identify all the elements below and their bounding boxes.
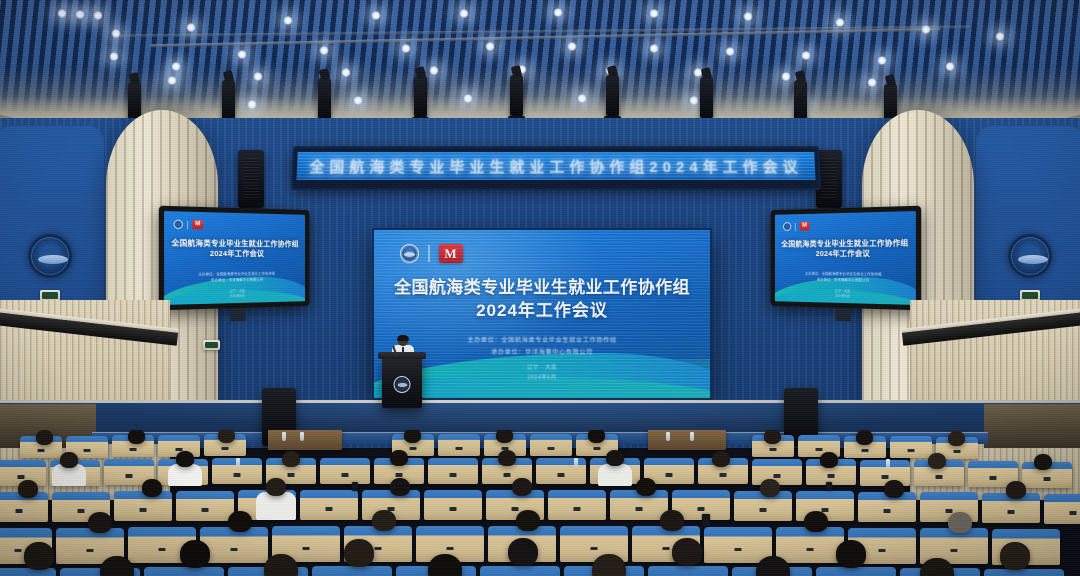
attendee-shoulders bbox=[256, 492, 296, 520]
water-bottle bbox=[666, 432, 670, 441]
led-banner-frame: 全国航海类专业毕业生就业工作协作组2024年工作会议 bbox=[291, 146, 821, 190]
side-right-subtitle: 主办单位：全国航海类专业毕业生就业工作协作组 承办单位：华洋海事中心有限公司 bbox=[775, 270, 916, 284]
main-subtitle-line1: 主办单位：全国航海类专业毕业生就业工作协作组 bbox=[384, 335, 700, 347]
seat-number-plate bbox=[1008, 510, 1015, 514]
seat-number-plate bbox=[234, 473, 241, 477]
side-left-logos: M bbox=[174, 220, 204, 230]
logo-divider bbox=[187, 220, 188, 228]
attendee-head bbox=[764, 430, 781, 444]
auditorium-seat[interactable] bbox=[320, 458, 370, 484]
ceiling-spotlight bbox=[566, 42, 578, 51]
attendee-head bbox=[390, 450, 408, 466]
side-right-title: 全国航海类专业毕业生就业工作协作组 2024年工作会议 bbox=[775, 238, 916, 259]
ceiling-spotlight bbox=[236, 50, 248, 59]
side-right-logos: M bbox=[783, 222, 810, 231]
water-bottle bbox=[574, 458, 578, 467]
stage-edge-trim bbox=[0, 400, 1080, 403]
ceiling-spotlight bbox=[458, 9, 470, 18]
main-led-screen: M 全国航海类专业毕业生就业工作协作组 2024年工作会议 主办单位：全国航海类… bbox=[372, 228, 712, 400]
logo-divider bbox=[795, 223, 796, 231]
attendee-head bbox=[266, 478, 286, 496]
seat-number-plate bbox=[231, 548, 238, 552]
ceiling-spotlight bbox=[648, 44, 660, 53]
attendee-head bbox=[176, 451, 194, 467]
seat-number-plate bbox=[882, 475, 889, 479]
seal-logo-icon bbox=[174, 220, 183, 229]
seat-number-plate bbox=[222, 447, 229, 451]
attendee-head bbox=[180, 540, 210, 568]
seat-number-plate bbox=[908, 449, 915, 453]
podium-emblem-icon bbox=[394, 376, 411, 393]
auditorium-seat[interactable] bbox=[176, 491, 234, 521]
smartphone[interactable] bbox=[352, 482, 358, 491]
seat-number-plate bbox=[884, 509, 891, 513]
attendee-head bbox=[1000, 542, 1030, 570]
seat-number-plate bbox=[130, 448, 137, 452]
ceiling-spotlight bbox=[400, 44, 412, 53]
seat-number-plate bbox=[1044, 477, 1051, 481]
attendee-head bbox=[282, 451, 300, 467]
attendee-head bbox=[390, 478, 410, 496]
led-banner-screen: 全国航海类专业毕业生就业工作协作组2024年工作会议 bbox=[296, 152, 815, 180]
attendee-head bbox=[18, 480, 38, 498]
seal-logo-icon bbox=[400, 244, 419, 263]
attendee-head bbox=[496, 430, 513, 443]
seal-logo-icon bbox=[783, 222, 791, 231]
loudspeaker-left bbox=[238, 150, 264, 208]
ceiling-spotlight bbox=[185, 23, 197, 32]
ceiling-spotlight bbox=[282, 16, 294, 25]
presenter-hair bbox=[397, 335, 409, 341]
seat-number-plate bbox=[954, 450, 961, 454]
seat-number-plate bbox=[450, 507, 457, 511]
attendee-head bbox=[60, 452, 78, 468]
stage-light-fixture bbox=[510, 75, 523, 117]
auditorium-seat[interactable] bbox=[776, 527, 844, 563]
seat-number-plate bbox=[78, 509, 85, 513]
side-right-title-line2: 2024年工作会议 bbox=[775, 249, 916, 260]
ceiling-spotlight bbox=[318, 46, 330, 55]
seat-number-plate bbox=[822, 508, 829, 512]
auditorium-seat[interactable] bbox=[312, 566, 392, 576]
ceiling-spotlight bbox=[56, 9, 68, 18]
seat-number-plate bbox=[504, 473, 511, 477]
side-display-left-screen: M 全国航海类专业毕业生就业工作协作组 2024年工作会议 主办单位：全国航海类… bbox=[164, 211, 305, 305]
seat-number-plate bbox=[202, 508, 209, 512]
seat-number-plate bbox=[807, 548, 814, 552]
seat-number-plate bbox=[574, 507, 581, 511]
stage-light-fixture bbox=[222, 80, 235, 122]
ceiling-spotlight bbox=[724, 47, 736, 56]
auditorium-seat[interactable] bbox=[428, 458, 478, 484]
stage-light-fixture bbox=[700, 77, 713, 119]
speaking-podium bbox=[382, 356, 422, 408]
attendee-head bbox=[36, 430, 53, 445]
seat-number-plate bbox=[87, 549, 94, 553]
led-banner-text: 全国航海类专业毕业生就业工作协作组2024年工作会议 bbox=[309, 156, 803, 177]
auditorium-seat[interactable] bbox=[536, 458, 586, 484]
seat-number-plate bbox=[720, 473, 727, 477]
attendee-head bbox=[344, 539, 374, 567]
main-screen-logos: M bbox=[400, 244, 463, 263]
auditorium-seat[interactable] bbox=[438, 434, 480, 456]
led-banner: 全国航海类专业毕业生就业工作协作组2024年工作会议 bbox=[292, 146, 820, 190]
seat-number-plate bbox=[862, 449, 869, 453]
side-left-title-line2: 2024年工作会议 bbox=[164, 249, 305, 260]
ceiling-spotlight bbox=[462, 94, 474, 103]
attendee-head bbox=[760, 479, 780, 497]
auditorium-seat[interactable] bbox=[0, 568, 56, 576]
side-display-right-stand bbox=[835, 308, 851, 322]
attendee-head-foreground bbox=[428, 554, 462, 576]
seat-number-plate bbox=[288, 473, 295, 477]
ceiling-spotlight bbox=[252, 72, 264, 81]
attendee-head bbox=[24, 542, 54, 570]
main-screen-title: 全国航海类专业毕业生就业工作协作组 2024年工作会议 bbox=[384, 276, 700, 322]
attendee-head bbox=[856, 430, 873, 445]
seat-number-plate bbox=[735, 548, 742, 552]
attendee-head bbox=[948, 512, 972, 533]
stage-light-fixture bbox=[794, 80, 807, 122]
seat-number-plate bbox=[591, 547, 598, 551]
seat-number-plate bbox=[636, 507, 643, 511]
seat-number-plate bbox=[303, 547, 310, 551]
seat-number-plate bbox=[16, 509, 23, 513]
attendee-head bbox=[636, 478, 656, 496]
main-title-line2: 2024年工作会议 bbox=[384, 299, 700, 322]
side-display-left: M 全国航海类专业毕业生就业工作协作组 2024年工作会议 主办单位：全国航海类… bbox=[159, 206, 310, 311]
attendee-shoulders bbox=[598, 464, 632, 486]
attendee-head bbox=[508, 538, 538, 566]
seat-number-plate bbox=[698, 507, 705, 511]
water-bottle bbox=[690, 432, 694, 441]
attendee-head bbox=[948, 431, 965, 446]
seat-number-plate bbox=[326, 507, 333, 511]
ceiling-spotlight bbox=[994, 32, 1006, 41]
seat-number-plate bbox=[936, 475, 943, 479]
attendee-head bbox=[228, 511, 252, 532]
auditorium-seat[interactable] bbox=[530, 434, 572, 456]
ceiling-spotlight bbox=[370, 11, 382, 20]
logo-divider bbox=[428, 245, 430, 262]
auditorium-seat[interactable] bbox=[144, 567, 224, 576]
ceiling-spotlight bbox=[110, 29, 122, 38]
ceiling-spotlight bbox=[166, 76, 178, 85]
water-bottle bbox=[236, 458, 240, 467]
attendee-head bbox=[372, 510, 396, 531]
attendee-head bbox=[606, 450, 624, 466]
attendee-head-foreground bbox=[264, 554, 298, 576]
ceiling-spotlight bbox=[834, 18, 846, 27]
wall-emblem-right-icon bbox=[1008, 234, 1052, 278]
side-display-right-screen: M 全国航海类专业毕业生就业工作协作组 2024年工作会议 主办单位：全国航海类… bbox=[775, 211, 916, 305]
seat-number-plate bbox=[816, 448, 823, 452]
attendee-head bbox=[218, 430, 235, 443]
ceiling-spotlight bbox=[552, 8, 564, 17]
attendee-head bbox=[836, 540, 866, 568]
attendee-head bbox=[512, 478, 532, 496]
auditorium-seat[interactable] bbox=[200, 527, 268, 563]
seat-number-plate bbox=[663, 547, 670, 551]
m-logo-icon: M bbox=[799, 222, 809, 231]
attendee-head bbox=[498, 450, 516, 466]
water-bottle bbox=[886, 459, 890, 468]
seat-number-plate bbox=[375, 547, 382, 551]
seat-number-plate bbox=[342, 473, 349, 477]
seat-number-plate bbox=[666, 473, 673, 477]
ceiling-spotlight bbox=[800, 51, 812, 60]
auditorium-seat[interactable] bbox=[300, 490, 358, 520]
seat-number-plate bbox=[1070, 511, 1077, 515]
ceiling-spotlight bbox=[92, 11, 104, 20]
attendee-shoulders bbox=[168, 464, 202, 486]
attendee-head bbox=[588, 430, 605, 443]
head-table bbox=[648, 430, 726, 450]
ceiling-spotlight bbox=[866, 78, 878, 87]
attendee-head bbox=[884, 480, 904, 498]
smartphone[interactable] bbox=[826, 482, 832, 491]
attendee-head bbox=[672, 538, 702, 566]
auditorium-seat[interactable] bbox=[816, 567, 896, 576]
auditorium-seat[interactable] bbox=[860, 460, 910, 486]
seat-number-plate bbox=[450, 473, 457, 477]
seat-number-plate bbox=[770, 448, 777, 452]
podium-top bbox=[378, 352, 426, 359]
auditorium-seat[interactable] bbox=[890, 436, 932, 458]
seat-number-plate bbox=[38, 449, 45, 453]
seat-number-plate bbox=[594, 447, 601, 451]
seat-number-plate bbox=[879, 549, 886, 553]
ceiling-spotlight bbox=[484, 42, 496, 51]
auditorium-seat[interactable] bbox=[480, 566, 560, 576]
main-screen-footer: 辽宁 · 大连 2024年6月 bbox=[384, 363, 700, 384]
seat-number-plate bbox=[946, 509, 953, 513]
ceiling-spotlight bbox=[340, 68, 352, 77]
attendee-head bbox=[1034, 454, 1052, 470]
m-logo-icon: M bbox=[439, 244, 463, 263]
attendee-head bbox=[660, 510, 684, 531]
side-left-title-line1: 全国航海类专业毕业生就业工作协作组 bbox=[164, 238, 305, 249]
side-right-title-line1: 全国航海类专业毕业生就业工作协作组 bbox=[775, 238, 916, 249]
main-footer-line1: 辽宁 · 大连 bbox=[384, 363, 700, 373]
auditorium-seat[interactable] bbox=[114, 491, 172, 521]
seat-number-plate bbox=[990, 476, 997, 480]
seat-number-plate bbox=[18, 475, 25, 479]
seat-number-plate bbox=[84, 449, 91, 453]
stage-light-fixture bbox=[414, 76, 427, 118]
side-left-title: 全国航海类专业毕业生就业工作协作组 2024年工作会议 bbox=[164, 238, 305, 259]
attendee-head bbox=[1006, 481, 1026, 499]
m-logo-icon: M bbox=[192, 220, 203, 229]
side-display-left-stand bbox=[230, 308, 246, 322]
ceiling-spotlight bbox=[876, 56, 888, 65]
seat-number-plate bbox=[456, 447, 463, 451]
attendee-head bbox=[820, 452, 838, 468]
attendee-head bbox=[142, 479, 162, 497]
seat-number-plate bbox=[828, 474, 835, 478]
seat-number-plate bbox=[760, 508, 767, 512]
water-bottle bbox=[282, 432, 286, 441]
seat-number-plate bbox=[15, 549, 22, 553]
seat-number-plate bbox=[159, 548, 166, 552]
ceiling-spotlight bbox=[74, 10, 86, 19]
smartphone[interactable] bbox=[702, 514, 710, 526]
head-table bbox=[268, 430, 342, 450]
seat-number-plate bbox=[396, 473, 403, 477]
stage-light-fixture bbox=[318, 78, 331, 120]
audience-seating-area bbox=[0, 430, 1080, 576]
main-footer-line2: 2024年6月 bbox=[384, 373, 700, 383]
ceiling-spotlight bbox=[170, 62, 182, 71]
auditorium-seat[interactable] bbox=[704, 527, 772, 563]
seat-number-plate bbox=[410, 447, 417, 451]
seat-number-plate bbox=[951, 549, 958, 553]
exit-sign-icon bbox=[203, 340, 220, 350]
main-title-line1: 全国航海类专业毕业生就业工作协作组 bbox=[384, 276, 700, 299]
main-screen-subtitle: 主办单位：全国航海类专业毕业生就业工作协作组 承办单位：华洋海事中心有限公司 bbox=[384, 335, 700, 360]
attendee-head bbox=[712, 451, 730, 467]
auditorium-seat[interactable] bbox=[548, 490, 606, 520]
auditorium-seat[interactable] bbox=[1044, 494, 1080, 524]
attendee-head bbox=[804, 511, 828, 532]
attendee-head bbox=[128, 430, 145, 444]
seat-number-plate bbox=[447, 547, 454, 551]
ceiling-spotlight bbox=[780, 72, 792, 81]
seat-number-plate bbox=[126, 474, 133, 478]
ceiling-spotlight bbox=[246, 100, 258, 109]
water-bottle bbox=[300, 432, 304, 441]
seat-number-plate bbox=[140, 508, 147, 512]
auditorium-seat[interactable] bbox=[648, 566, 728, 576]
attendee-head-foreground bbox=[592, 554, 626, 576]
auditorium-seat[interactable] bbox=[984, 569, 1064, 576]
ceiling-spotlight bbox=[428, 66, 440, 75]
seat-number-plate bbox=[774, 474, 781, 478]
seat-number-plate bbox=[558, 473, 565, 477]
ceiling-spotlight bbox=[920, 25, 932, 34]
ceiling-spotlight bbox=[944, 62, 956, 71]
side-display-right: M 全国航海类专业毕业生就业工作协作组 2024年工作会议 主办单位：全国航海类… bbox=[771, 206, 922, 311]
seat-number-plate bbox=[548, 447, 555, 451]
ceiling-spotlight bbox=[648, 9, 660, 18]
ceiling-spotlight bbox=[576, 94, 588, 103]
ceiling-spotlight bbox=[108, 52, 120, 61]
auditorium-scene: 全国航海类专业毕业生就业工作协作组2024年工作会议 M 全国航海类专业毕业生就… bbox=[0, 0, 1080, 576]
attendee-head bbox=[928, 453, 946, 469]
ceiling-spotlight bbox=[742, 12, 754, 21]
attendee-head bbox=[516, 510, 540, 531]
wall-emblem-left-icon bbox=[28, 234, 72, 278]
ceiling-spotlight bbox=[352, 96, 364, 105]
stage-light-fixture bbox=[606, 75, 619, 117]
main-subtitle-line2: 承办单位：华洋海事中心有限公司 bbox=[384, 347, 700, 359]
seat-number-plate bbox=[512, 507, 519, 511]
side-left-subtitle: 主办单位：全国航海类专业毕业生就业工作协作组 承办单位：华洋海事中心有限公司 bbox=[164, 270, 305, 284]
ceiling-spotlight bbox=[688, 96, 700, 105]
attendee-head bbox=[88, 512, 112, 533]
attendee-head bbox=[404, 430, 421, 443]
auditorium-seat[interactable] bbox=[424, 490, 482, 520]
